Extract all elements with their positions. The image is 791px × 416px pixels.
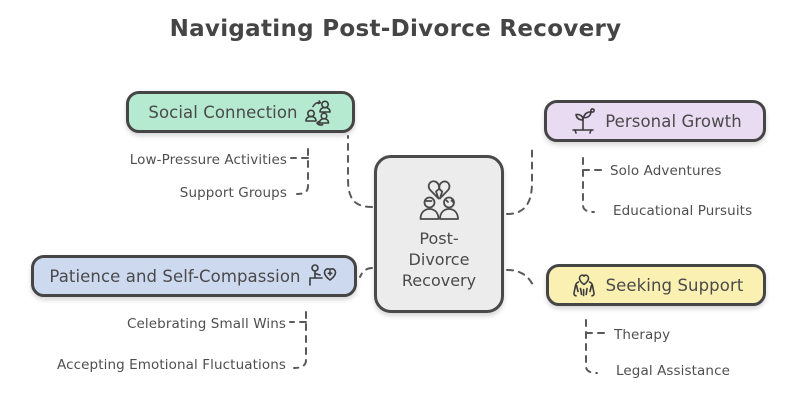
node-post-divorce-recovery[interactable]: Post- Divorce Recovery bbox=[374, 155, 504, 313]
node-seeking-support-label: Seeking Support bbox=[606, 276, 744, 295]
leaf-support-groups: Support Groups bbox=[127, 185, 287, 201]
broken-heart-two-people-icon bbox=[413, 178, 465, 224]
connector-center-social bbox=[348, 136, 372, 207]
page-title: Navigating Post-Divorce Recovery bbox=[0, 16, 791, 42]
connector-support-children bbox=[586, 320, 597, 373]
node-social-connection[interactable]: Social Connection bbox=[126, 91, 355, 133]
seedling-plant-icon bbox=[568, 107, 598, 135]
leaf-therapy: Therapy bbox=[614, 327, 670, 343]
center-node-label: Post- Divorce Recovery bbox=[402, 228, 476, 291]
node-personal-growth-label: Personal Growth bbox=[605, 112, 742, 131]
connector-center-support bbox=[507, 270, 533, 285]
connector-center-growth bbox=[507, 145, 532, 214]
leaf-legal-assistance: Legal Assistance bbox=[616, 363, 730, 379]
node-personal-growth[interactable]: Personal Growth bbox=[544, 100, 766, 142]
leaf-solo-adventures: Solo Adventures bbox=[610, 163, 722, 179]
connector-center-patience bbox=[360, 268, 372, 277]
people-network-icon bbox=[305, 99, 333, 126]
connector-patience-children bbox=[294, 312, 306, 368]
leaf-educational-pursuits: Educational Pursuits bbox=[613, 203, 752, 219]
leaf-celebrating-small-wins: Celebrating Small Wins bbox=[126, 316, 286, 332]
node-patience-and-self-compassion[interactable]: Patience and Self-Compassion bbox=[31, 255, 357, 297]
connector-social-children bbox=[297, 149, 308, 194]
diagram-canvas: Navigating Post-Divorce Recovery bbox=[0, 0, 791, 416]
node-seeking-support[interactable]: Seeking Support bbox=[546, 264, 766, 306]
node-social-connection-label: Social Connection bbox=[148, 103, 297, 122]
leaf-accepting-emotional-fluctuations: Accepting Emotional Fluctuations bbox=[15, 357, 286, 373]
leaf-low-pressure-activities: Low-Pressure Activities bbox=[127, 152, 287, 168]
hands-holding-heart-icon bbox=[569, 271, 599, 299]
node-patience-label: Patience and Self-Compassion bbox=[49, 267, 300, 286]
connector-growth-children bbox=[583, 158, 594, 212]
seated-person-heart-icon bbox=[308, 262, 339, 290]
